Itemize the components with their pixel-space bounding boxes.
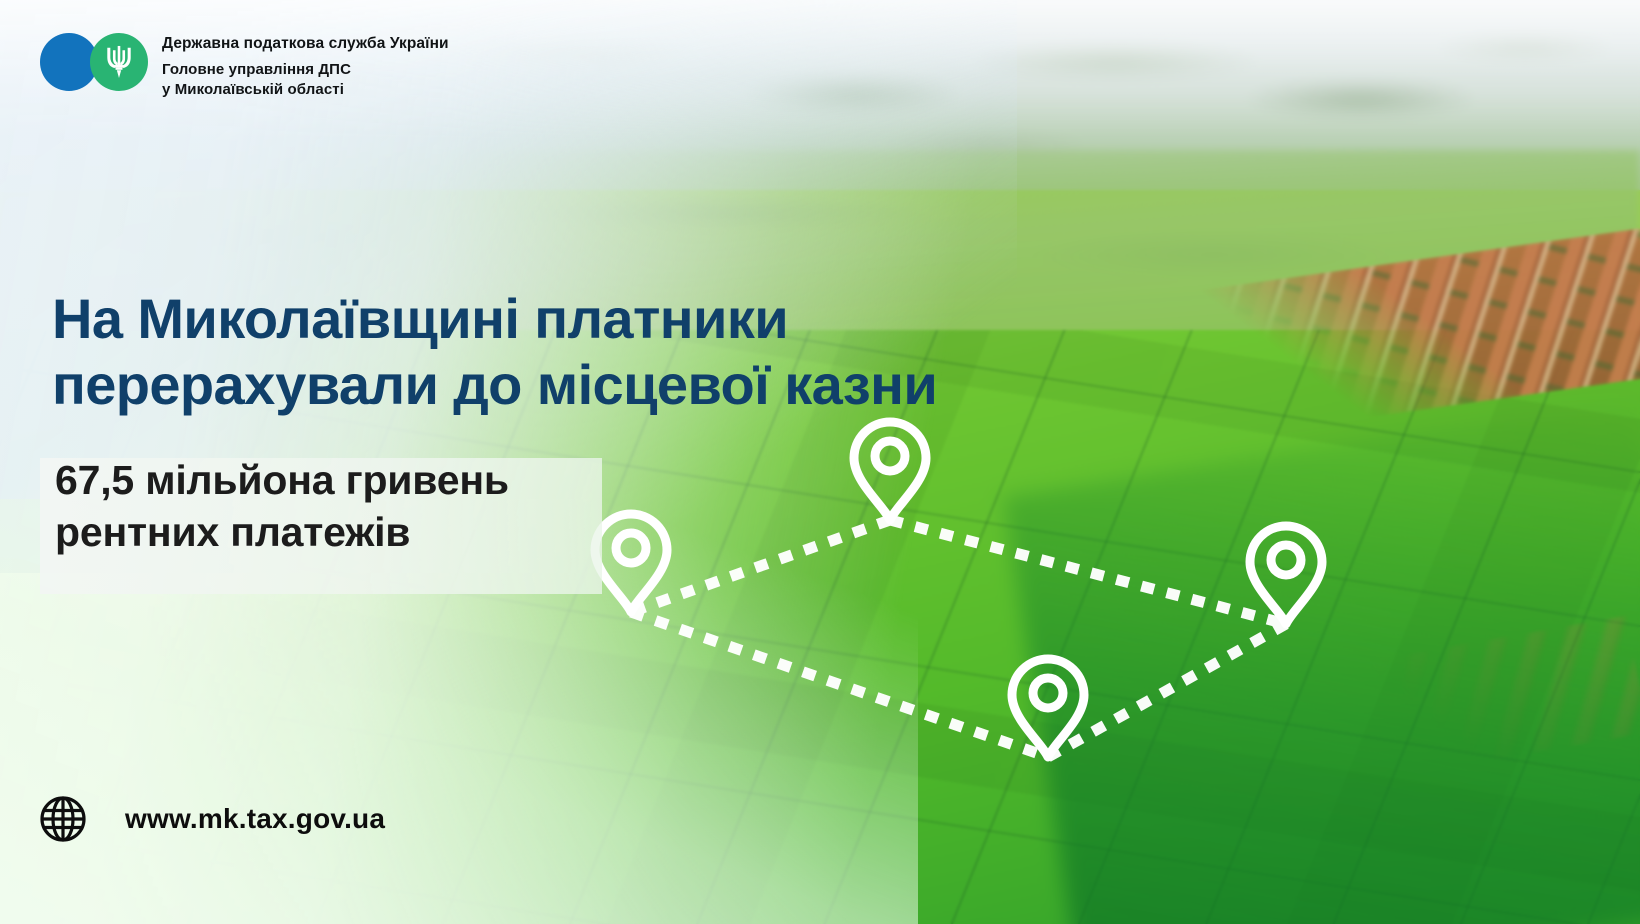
headline: На Миколаївщині платники перерахували до… <box>52 286 1062 417</box>
footer: www.mk.tax.gov.ua <box>39 795 385 843</box>
globe-icon <box>39 795 87 843</box>
logo-marks <box>40 33 148 91</box>
department-name: Головне управління ДПС у Миколаївській о… <box>162 60 449 100</box>
headline-line-1: На Миколаївщині платники <box>52 286 1062 352</box>
organization-name: Державна податкова служба України <box>162 34 449 53</box>
brand-text-block: Державна податкова служба України Головн… <box>162 33 449 100</box>
poster-canvas: Державна податкова служба України Головн… <box>0 0 1640 924</box>
subhead: 67,5 мільйона гривень рентних платежів <box>55 455 655 558</box>
ukrainian-trident-icon <box>106 45 132 79</box>
website-url[interactable]: www.mk.tax.gov.ua <box>125 803 385 835</box>
headline-line-2: перерахували до місцевої казни <box>52 352 1062 418</box>
department-line-2: у Миколаївській області <box>162 80 449 100</box>
department-line-1: Головне управління ДПС <box>162 60 449 80</box>
subhead-detail-line: рентних платежів <box>55 507 655 559</box>
subhead-amount-line: 67,5 мільйона гривень <box>55 455 655 507</box>
brand-lockup: Державна податкова служба України Головн… <box>40 33 449 100</box>
green-circle-icon <box>90 33 148 91</box>
